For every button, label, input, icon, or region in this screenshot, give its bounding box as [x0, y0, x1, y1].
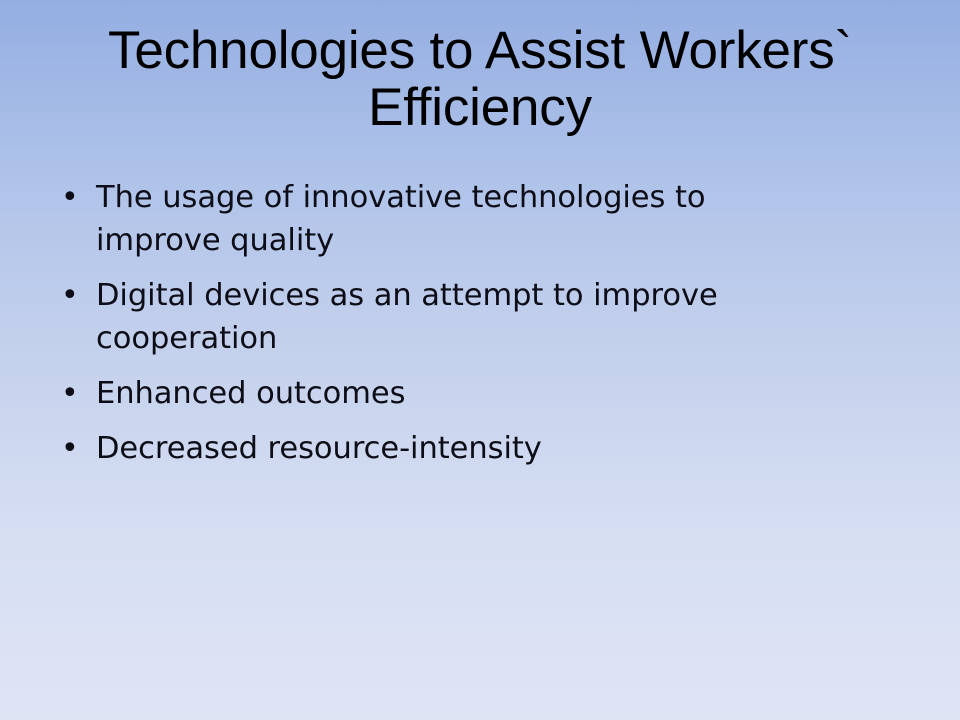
bullet-item-3-text: Enhanced outcomes [96, 372, 856, 415]
bullet-item-2: • Digital devices as an attempt to impro… [52, 274, 882, 360]
bullet-point-icon: • [52, 274, 96, 317]
bullet-item-2-text: Digital devices as an attempt to improve… [96, 274, 796, 360]
slide-title: Technologies to Assist Workers` Efficien… [0, 22, 960, 136]
bullet-item-3: • Enhanced outcomes [52, 372, 882, 415]
bullet-point-icon: • [52, 372, 96, 415]
bullet-item-1: • The usage of innovative technologies t… [52, 176, 882, 262]
bullet-point-icon: • [52, 176, 96, 219]
bullet-item-4: • Decreased resource-intensity [52, 427, 882, 470]
slide-bullet-list: • The usage of innovative technologies t… [52, 176, 882, 470]
slide-title-line-2: Efficiency [24, 79, 936, 136]
presentation-slide: Technologies to Assist Workers` Efficien… [0, 0, 960, 720]
slide-title-line-1: Technologies to Assist Workers` [24, 22, 936, 79]
bullet-item-4-text: Decreased resource-intensity [96, 427, 856, 470]
bullet-item-1-text: The usage of innovative technologies to … [96, 176, 796, 262]
bullet-point-icon: • [52, 427, 96, 470]
